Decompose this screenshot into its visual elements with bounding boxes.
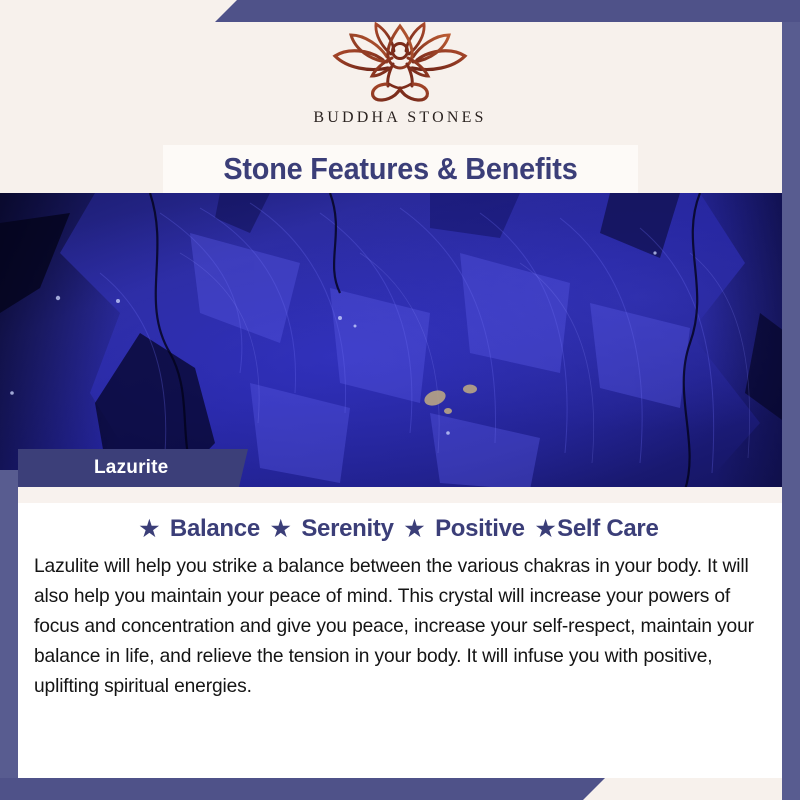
panel-top-strip — [18, 487, 782, 503]
brand-logo: BUDDHA STONES — [313, 22, 486, 127]
keyword-serenity: Serenity — [301, 515, 393, 542]
star-icon: ★ — [536, 516, 555, 541]
page-title-card: Stone Features & Benefits — [163, 145, 638, 193]
star-icon: ★ — [271, 516, 290, 541]
stone-name: Lazurite — [18, 457, 168, 479]
keyword-list: ★Balance★Serenity★Positive★Self Care — [18, 515, 782, 543]
star-icon: ★ — [405, 516, 424, 541]
stone-name-bar: Lazurite — [18, 449, 248, 487]
frame-bar-bottom — [0, 778, 605, 800]
keyword-balance: Balance — [170, 515, 260, 542]
lazurite-stone-illustration — [0, 193, 800, 490]
lotus-meditation-figure-icon — [325, 22, 475, 104]
content-panel: ★Balance★Serenity★Positive★Self Care Laz… — [18, 487, 782, 778]
stone-photo — [0, 193, 800, 490]
star-icon: ★ — [139, 516, 158, 541]
page-title: Stone Features & Benefits — [223, 151, 577, 187]
keyword-self-care: Self Care — [557, 515, 658, 542]
stone-description: Lazulite will help you strike a balance … — [34, 551, 755, 701]
frame-bar-left — [0, 470, 18, 778]
keyword-positive: Positive — [435, 515, 525, 542]
brand-name: BUDDHA STONES — [313, 109, 486, 127]
